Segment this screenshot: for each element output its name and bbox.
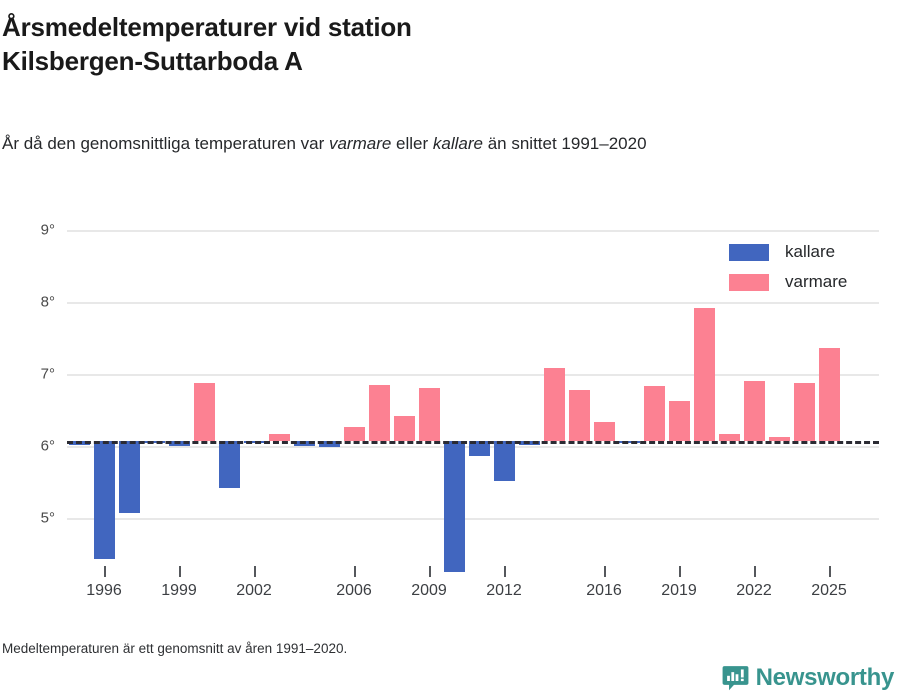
subtitle-text-2: eller <box>391 134 433 153</box>
x-axis-tick-label: 1996 <box>86 582 122 600</box>
x-axis-tick <box>604 566 606 577</box>
y-axis-tick-label: 5° <box>41 510 55 527</box>
x-axis-tick <box>504 566 506 577</box>
subtitle-emphasis-colder: kallare <box>433 134 483 153</box>
x-axis-tick-label: 2002 <box>236 582 272 600</box>
bar-2009[interactable] <box>419 388 440 441</box>
y-axis-tick-label: 9° <box>41 222 55 239</box>
bar-2008[interactable] <box>394 416 415 440</box>
y-axis-tick-label: 6° <box>41 438 55 455</box>
x-axis-tick <box>429 566 431 577</box>
x-axis-tick-label: 2006 <box>336 582 372 600</box>
legend-swatch-cold-icon <box>729 244 769 261</box>
bar-2003[interactable] <box>269 434 290 440</box>
bar-2006[interactable] <box>344 427 365 441</box>
mean-reference-line <box>67 441 879 444</box>
bar-1997[interactable] <box>119 441 140 513</box>
y-axis-tick-label: 7° <box>41 366 55 383</box>
subtitle-text-1: År då den genomsnittliga temperaturen va… <box>2 134 329 153</box>
chart-page: Årsmedeltemperaturer vid station Kilsber… <box>0 0 900 700</box>
x-axis-tick <box>679 566 681 577</box>
x-axis-tick-label: 1999 <box>161 582 197 600</box>
bar-2019[interactable] <box>669 401 690 441</box>
legend-item-cold[interactable]: kallare <box>729 237 899 267</box>
x-axis-tick-label: 2016 <box>586 582 622 600</box>
subtitle-emphasis-warmer: varmare <box>329 134 391 153</box>
bar-2018[interactable] <box>644 386 665 441</box>
brand-name: Newsworthy <box>756 664 894 692</box>
x-axis-tick-label: 2022 <box>736 582 772 600</box>
bar-2021[interactable] <box>719 434 740 440</box>
x-axis-tick-label: 2009 <box>411 582 447 600</box>
legend-swatch-warm-icon <box>729 274 769 291</box>
newsworthy-bars-bubble-icon <box>722 665 749 692</box>
bar-2007[interactable] <box>369 385 390 441</box>
legend-label-warm: varmare <box>785 272 847 292</box>
x-axis-tick <box>254 566 256 577</box>
bar-2015[interactable] <box>569 390 590 441</box>
bar-2022[interactable] <box>744 381 765 441</box>
brand-logo[interactable]: Newsworthy <box>722 664 894 692</box>
x-axis-tick <box>354 566 356 577</box>
bar-2014[interactable] <box>544 368 565 441</box>
page-title: Årsmedeltemperaturer vid station Kilsber… <box>2 10 622 79</box>
bar-2025[interactable] <box>819 348 840 441</box>
x-axis: 1996199920022006200920122016201920222025 <box>67 518 879 588</box>
x-axis-tick-label: 2012 <box>486 582 522 600</box>
x-axis-tick-label: 2025 <box>811 582 847 600</box>
subtitle-text-3: än snittet 1991–2020 <box>483 134 647 153</box>
bar-2000[interactable] <box>194 383 215 441</box>
x-axis-tick-label: 2019 <box>661 582 697 600</box>
bar-2016[interactable] <box>594 422 615 441</box>
x-axis-tick <box>104 566 106 577</box>
bar-2001[interactable] <box>219 441 240 488</box>
y-axis-tick-label: 8° <box>41 294 55 311</box>
bar-2012[interactable] <box>494 441 515 481</box>
bar-2020[interactable] <box>694 308 715 441</box>
chart-subtitle: År då den genomsnittliga temperaturen va… <box>2 130 842 157</box>
x-axis-tick <box>179 566 181 577</box>
bar-2024[interactable] <box>794 383 815 441</box>
legend-item-warm[interactable]: varmare <box>729 267 899 297</box>
legend: kallare varmare <box>729 237 899 297</box>
legend-label-cold: kallare <box>785 242 835 262</box>
footnote: Medeltemperaturen är ett genomsnitt av å… <box>2 641 347 656</box>
x-axis-tick <box>754 566 756 577</box>
x-axis-tick <box>829 566 831 577</box>
